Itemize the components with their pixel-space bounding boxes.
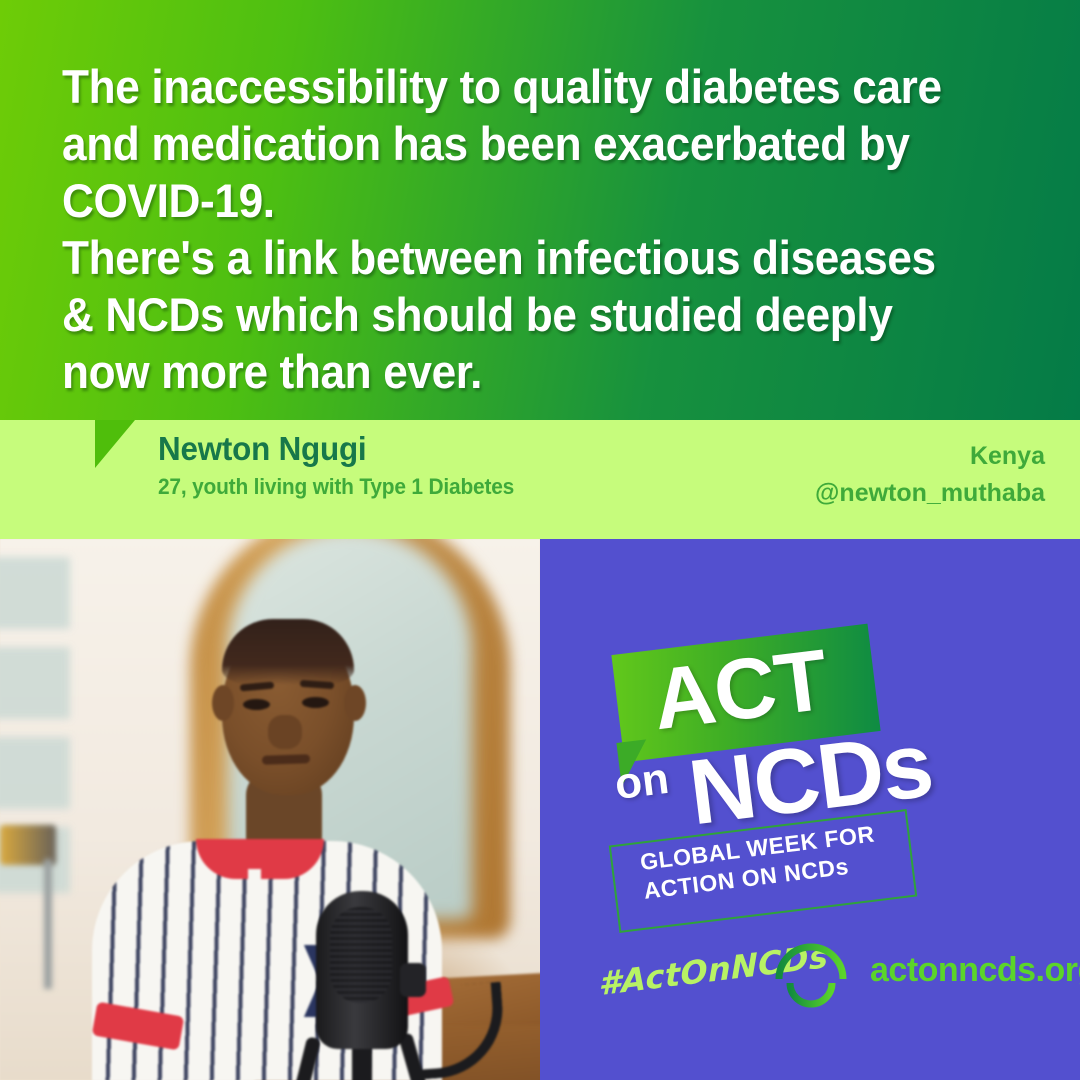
photo-ear bbox=[212, 685, 234, 721]
attribution-left: Newton Ngugi 27, youth living with Type … bbox=[158, 430, 638, 501]
logo-on-text: on bbox=[612, 756, 671, 808]
brand-panel: ACT on NCDs GLOBAL WEEK FOR ACTION ON NC… bbox=[540, 539, 1080, 1080]
speaker-name: Newton Ngugi bbox=[158, 430, 614, 468]
photo-mic-knob bbox=[400, 963, 426, 997]
photo-nose bbox=[268, 715, 302, 749]
speaker-photo bbox=[0, 539, 540, 1080]
speaker-role: 27, youth living with Type 1 Diabetes bbox=[158, 473, 614, 501]
photo-wall-panel bbox=[0, 647, 70, 719]
attribution-right: Kenya @newton_muthaba bbox=[815, 441, 1045, 509]
photo-equipment-stand bbox=[44, 859, 52, 989]
act-on-ncds-logo: ACT on NCDs GLOBAL WEEK FOR ACTION ON NC… bbox=[605, 631, 1025, 911]
photo-ear bbox=[344, 685, 366, 721]
social-poster: The inaccessibility to quality diabetes … bbox=[0, 0, 1080, 1080]
photo-wall-panel bbox=[0, 737, 70, 809]
photo-eye bbox=[302, 697, 329, 708]
quote-panel: The inaccessibility to quality diabetes … bbox=[0, 0, 1080, 420]
split-ring-icon bbox=[773, 937, 849, 1013]
speaker-handle: @newton_muthaba bbox=[815, 478, 1045, 509]
photo-hair bbox=[222, 619, 354, 685]
website-url[interactable]: actonncds.org bbox=[870, 951, 1080, 990]
photo-wall-panel bbox=[0, 557, 70, 629]
speech-bubble-tail-icon bbox=[95, 420, 135, 468]
photo-mouth bbox=[262, 754, 310, 765]
speaker-country: Kenya bbox=[815, 441, 1045, 472]
photo-mic-grill bbox=[330, 907, 392, 1003]
quote-text: The inaccessibility to quality diabetes … bbox=[62, 58, 964, 400]
photo-eye bbox=[243, 699, 270, 710]
photo-jersey-placket bbox=[248, 869, 261, 1080]
